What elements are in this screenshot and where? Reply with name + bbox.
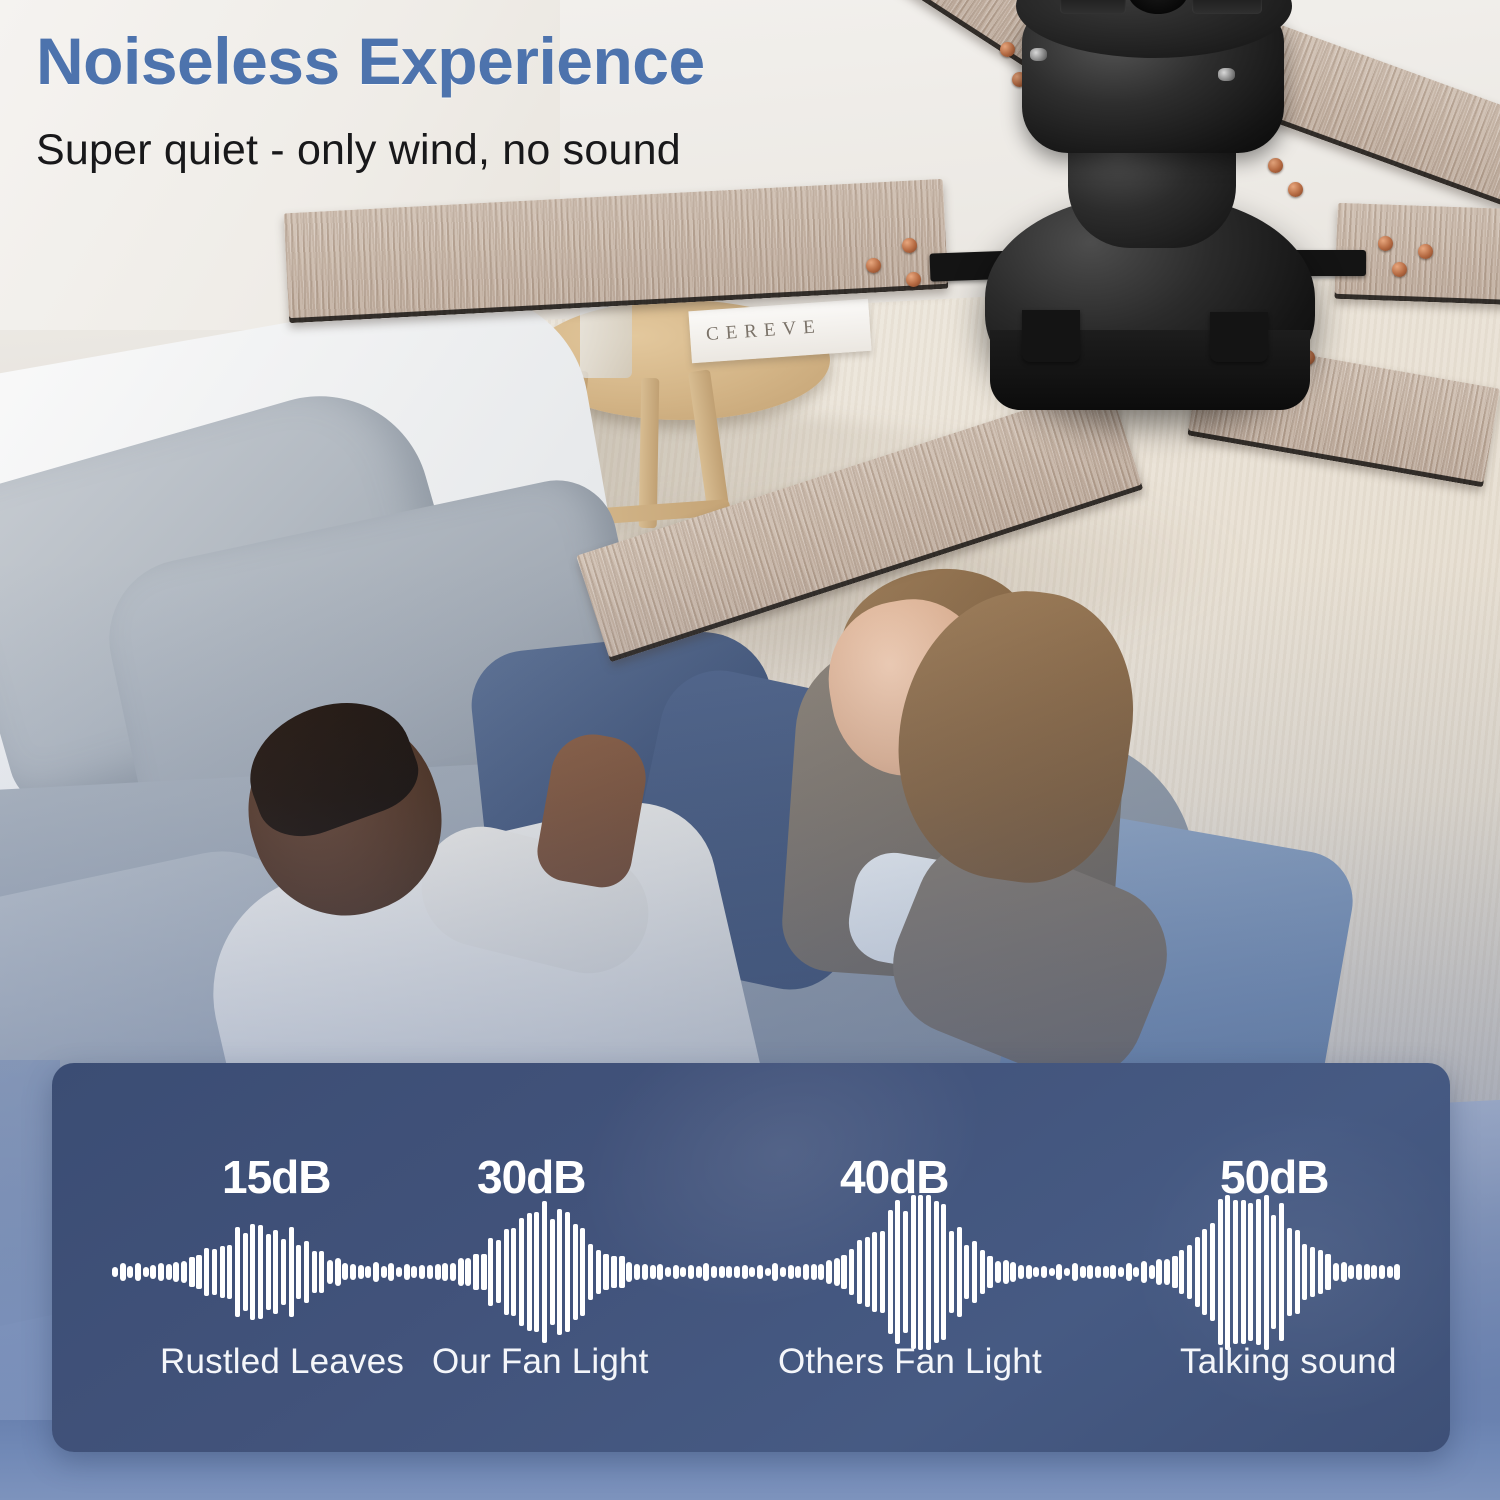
waveform-bar: [212, 1249, 217, 1295]
page-title: Noiseless Experience: [36, 28, 705, 94]
waveform-bar: [987, 1256, 993, 1288]
waveform-bar: [1379, 1265, 1385, 1278]
waveform-bar: [626, 1262, 632, 1282]
waveform-bar: [550, 1219, 555, 1325]
waveform-bar: [742, 1265, 748, 1280]
waveform-bar: [1118, 1267, 1124, 1277]
waveform-bar: [888, 1210, 893, 1334]
waveform-bar: [711, 1266, 717, 1278]
waveform-bar: [273, 1230, 278, 1315]
waveform-bar: [1041, 1266, 1047, 1279]
waveform-bar: [1264, 1195, 1269, 1350]
fan-vent-slot: [1192, 0, 1262, 14]
waveform-bar: [634, 1264, 640, 1279]
waveform-bar: [511, 1228, 516, 1315]
waveform-bar: [411, 1266, 417, 1278]
waveform-bar: [289, 1227, 294, 1316]
waveform-bar: [1256, 1199, 1261, 1346]
waveform-bar: [1325, 1254, 1331, 1291]
waveform-bar: [849, 1249, 854, 1296]
waveform-bar: [350, 1264, 356, 1279]
blade-screw: [1268, 158, 1283, 173]
waveform-bar: [1172, 1256, 1178, 1287]
waveform-bar: [1133, 1267, 1139, 1277]
waveform-bar: [665, 1267, 671, 1277]
waveform-bar: [749, 1267, 755, 1277]
waveform-bar: [1279, 1203, 1284, 1341]
waveform-bar: [427, 1265, 433, 1278]
waveform-bar: [381, 1266, 387, 1278]
waveform-bar: [1387, 1266, 1393, 1278]
waveform-bar: [250, 1224, 255, 1321]
waveform-bar: [1110, 1265, 1116, 1279]
waveform-bar: [327, 1260, 333, 1285]
fan-blade-arm: [1022, 310, 1080, 362]
waveform-bar: [335, 1258, 341, 1285]
waveform-bar: [488, 1238, 493, 1306]
fan-blade-arm: [1210, 312, 1268, 362]
waveform-bar: [1364, 1264, 1370, 1280]
waveform-bar: [534, 1212, 539, 1332]
waveform-bar: [396, 1267, 402, 1277]
waveform-bar: [1210, 1223, 1215, 1322]
waveform-bar: [1333, 1263, 1339, 1280]
waveform-bar: [841, 1255, 847, 1290]
waveform-bar: [1371, 1265, 1377, 1280]
waveform-bar: [1394, 1264, 1400, 1280]
waveform-bar: [1225, 1195, 1230, 1350]
waveform-bar: [603, 1254, 609, 1291]
waveform-bar: [189, 1257, 195, 1288]
waveform-bar: [473, 1254, 479, 1291]
waveform-bar: [757, 1265, 763, 1279]
waveform-bar: [227, 1245, 232, 1299]
waveform-bar: [949, 1231, 954, 1312]
waveform-bar: [127, 1266, 133, 1278]
waveform-bar: [181, 1261, 187, 1282]
waveform-bar: [404, 1264, 410, 1281]
waveform-bar: [719, 1266, 725, 1277]
waveform-bar: [1164, 1259, 1170, 1284]
waveform-bar: [1049, 1268, 1055, 1276]
waveform-bar: [542, 1201, 547, 1342]
waveform-bar: [220, 1246, 225, 1298]
waveform-bar: [903, 1211, 908, 1333]
waveform-bar: [1302, 1244, 1307, 1300]
fan-blade: [284, 179, 949, 323]
waveform-bar: [795, 1266, 801, 1278]
waveform-bar: [1341, 1262, 1347, 1282]
blade-screw: [1418, 244, 1433, 259]
waveform-bar: [650, 1265, 656, 1280]
waveform-bar: [826, 1260, 832, 1285]
blade-screw: [1288, 182, 1303, 197]
waveform-bar: [235, 1227, 240, 1317]
waveform-bar: [442, 1263, 448, 1282]
waveform-bar: [964, 1245, 969, 1299]
waveform-bar: [465, 1258, 471, 1286]
waveform-bar: [173, 1262, 179, 1282]
waveform-bar: [166, 1264, 172, 1281]
waveform-bar: [688, 1265, 694, 1278]
waveform-bar: [281, 1239, 286, 1305]
waveform-bar: [358, 1265, 364, 1279]
waveform-bar: [1179, 1250, 1184, 1294]
waveform-bar: [1248, 1203, 1253, 1340]
waveform-bar: [941, 1204, 946, 1340]
waveform-bar: [1271, 1215, 1276, 1329]
waveform-bar: [934, 1201, 939, 1344]
waveform-bar: [872, 1232, 877, 1311]
waveform-bar: [619, 1256, 625, 1288]
waveform-bar: [1218, 1199, 1223, 1345]
waveform-bar: [818, 1264, 824, 1281]
blade-screw: [1392, 262, 1407, 277]
waveform-bar: [1348, 1265, 1354, 1279]
waveform-bar: [911, 1195, 916, 1350]
waveform-bar: [1356, 1264, 1362, 1280]
waveform-bar: [481, 1254, 487, 1290]
waveform-bar: [1095, 1266, 1101, 1279]
waveform-bar: [1103, 1266, 1109, 1277]
waveform-bar: [1026, 1265, 1032, 1279]
waveform-bar: [1003, 1260, 1009, 1285]
waveform-bar: [1287, 1228, 1292, 1316]
waveform-bar: [304, 1241, 309, 1304]
waveform-bar: [243, 1233, 248, 1312]
waveform-bar: [980, 1250, 985, 1294]
waveform-bar: [1233, 1200, 1238, 1344]
waveform-bar: [880, 1231, 885, 1314]
waveform-bar: [519, 1218, 524, 1325]
blade-screw: [1000, 42, 1015, 57]
waveform-bar: [365, 1266, 371, 1278]
waveform-bar: [258, 1225, 263, 1319]
waveform-bar: [857, 1240, 862, 1304]
waveform-bar: [112, 1267, 118, 1276]
waveform-bar: [657, 1264, 663, 1280]
waveform-bar: [611, 1256, 617, 1288]
sound-label-3: Talking sound: [1180, 1342, 1397, 1382]
waveform-bar: [150, 1265, 156, 1278]
audio-waveform: [112, 1195, 1402, 1350]
fan-vent-slot: [1060, 0, 1126, 14]
blade-screw: [906, 272, 921, 287]
waveform-bar: [296, 1245, 301, 1298]
waveform-bar: [596, 1250, 601, 1294]
waveform-bar: [895, 1200, 900, 1344]
waveform-bar: [450, 1263, 456, 1281]
housing-screw: [1218, 68, 1235, 81]
waveform-bar: [1033, 1267, 1039, 1277]
waveform-bar: [565, 1212, 570, 1333]
waveform-bar: [642, 1264, 648, 1280]
blade-screw: [866, 258, 881, 273]
waveform-bar: [1241, 1200, 1246, 1345]
waveform-bar: [1310, 1247, 1315, 1297]
waveform-bar: [1010, 1262, 1016, 1281]
waveform-bar: [926, 1195, 931, 1350]
waveform-bar: [266, 1234, 271, 1310]
waveform-bar: [696, 1266, 702, 1278]
waveform-bar: [1080, 1266, 1086, 1278]
waveform-bar: [865, 1237, 870, 1307]
waveform-bar: [780, 1267, 786, 1277]
waveform-bar: [435, 1264, 441, 1279]
waveform-bar: [1156, 1259, 1162, 1285]
waveform-bar: [196, 1255, 202, 1288]
waveform-bar: [673, 1265, 679, 1278]
waveform-bar: [1064, 1268, 1070, 1277]
sound-label-2: Others Fan Light: [778, 1342, 1042, 1382]
waveform-bar: [726, 1266, 732, 1278]
waveform-bar: [1202, 1229, 1207, 1315]
waveform-bar: [1149, 1265, 1155, 1280]
waveform-bar: [995, 1261, 1001, 1283]
waveform-bar: [680, 1267, 686, 1277]
waveform-bar: [504, 1229, 509, 1314]
waveform-bar: [419, 1265, 425, 1279]
waveform-bar: [834, 1258, 840, 1286]
waveform-bar: [1018, 1265, 1024, 1279]
waveform-bar: [204, 1248, 209, 1296]
waveform-bar: [588, 1244, 593, 1301]
waveform-bar: [135, 1263, 141, 1281]
waveform-bar: [319, 1251, 324, 1293]
waveform-bar: [788, 1265, 794, 1278]
waveform-bar: [703, 1263, 709, 1280]
waveform-bar: [803, 1264, 809, 1280]
waveform-bar: [1318, 1250, 1323, 1294]
waveform-bar: [734, 1266, 740, 1279]
waveform-bar: [158, 1263, 164, 1280]
blade-screw: [902, 238, 917, 253]
waveform-bar: [1126, 1263, 1132, 1280]
product-infographic: CEREVE: [0, 0, 1500, 1500]
waveform-bar: [1072, 1263, 1078, 1280]
waveform-bar: [1295, 1230, 1300, 1313]
waveform-bar: [957, 1227, 962, 1316]
waveform-bar: [573, 1224, 578, 1320]
sound-label-1: Our Fan Light: [432, 1342, 649, 1382]
waveform-bar: [765, 1268, 771, 1277]
waveform-bar: [342, 1263, 348, 1280]
waveform-bar: [918, 1195, 923, 1350]
waveform-bar: [120, 1263, 126, 1280]
waveform-bar: [1087, 1265, 1093, 1279]
sound-label-0: Rustled Leaves: [160, 1342, 404, 1382]
waveform-bar: [312, 1251, 317, 1293]
waveform-bar: [373, 1262, 379, 1281]
blade-screw: [1378, 236, 1393, 251]
waveform-bar: [972, 1241, 977, 1303]
waveform-bar: [811, 1264, 817, 1279]
waveform-bar: [580, 1228, 585, 1315]
housing-screw: [1030, 48, 1047, 61]
waveform-bar: [1141, 1261, 1147, 1283]
waveform-bar: [143, 1267, 149, 1277]
waveform-bar: [458, 1258, 464, 1287]
waveform-bar: [1187, 1245, 1192, 1300]
waveform-bar: [496, 1240, 501, 1303]
waveform-bar: [1056, 1264, 1062, 1280]
waveform-bar: [772, 1263, 778, 1280]
waveform-bar: [388, 1263, 394, 1281]
waveform-bar: [1195, 1237, 1200, 1306]
waveform-bar: [527, 1213, 532, 1331]
waveform-bar: [557, 1209, 562, 1335]
page-subtitle: Super quiet - only wind, no sound: [36, 126, 681, 175]
